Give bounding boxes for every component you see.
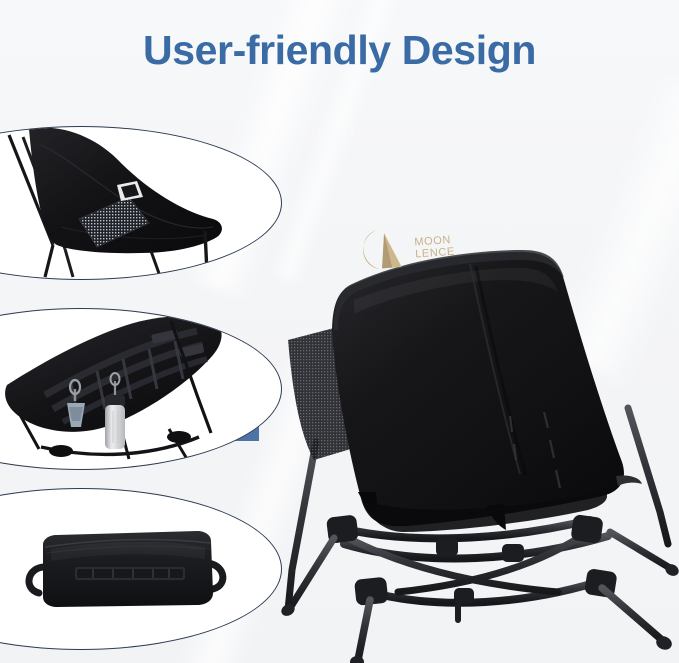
feature-photo-organizer-pocket [0,126,282,280]
feature-photo-carrying-bag [0,488,282,650]
feature-column: Within-Reach Organizer Pocket [0,120,290,663]
hero-product-image: MOON LENCE [258,140,679,663]
page-title: User-friendly Design [0,27,679,74]
chair-underside-molle-photo [1,309,281,469]
product-infographic: User-friendly Design [0,0,679,663]
brand-logo: MOON LENCE [356,221,459,279]
feature-photo-molle-system [0,308,282,470]
chair-side-view-photo [1,127,281,279]
crescent-mountain-icon [356,224,413,278]
brand-logo-text: MOON LENCE [414,234,459,261]
carrying-bag-photo [1,489,281,649]
